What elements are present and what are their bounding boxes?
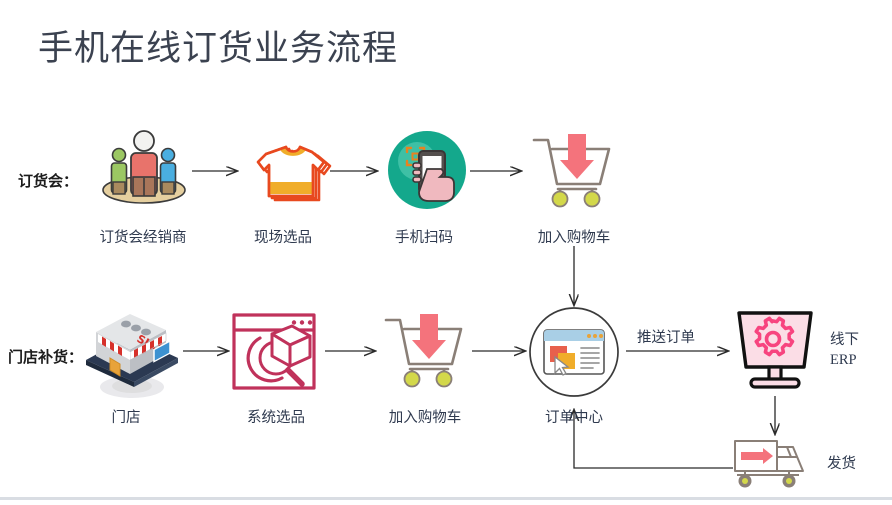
node-label-cart-top: 加入购物车 (538, 226, 611, 247)
people-group-icon (98, 128, 190, 206)
side-label-shipping: 发货 (827, 455, 856, 475)
node-label-phone-scan: 手机扫码 (395, 226, 453, 247)
row-label-store-replenish: 门店补货： (8, 346, 83, 367)
shop-building-icon: SHOP (78, 308, 183, 400)
monitor-gear-icon (731, 309, 819, 393)
browser-search-box-icon (230, 312, 318, 392)
order-center-icon (527, 305, 621, 399)
bottom-divider (0, 497, 892, 500)
side-label-erp-line2: ERP (830, 351, 859, 371)
delivery-truck-icon (733, 435, 811, 491)
node-label-dealer: 订货会经销商 (100, 226, 187, 247)
side-label-erp-line1: 线下 (830, 331, 859, 351)
node-label-cart-bottom: 加入购物车 (389, 406, 462, 427)
tshirt-icon (248, 134, 328, 206)
node-label-store: 门店 (112, 406, 141, 427)
connector-arrows (0, 0, 892, 505)
phone-scan-icon (387, 130, 467, 210)
row-label-order-meeting: 订货会： (18, 170, 78, 191)
side-label-erp: 线下 ERP (830, 331, 859, 370)
shopping-cart-icon (530, 132, 616, 208)
shopping-cart-icon (382, 312, 468, 388)
node-label-onsite-select: 现场选品 (254, 226, 312, 247)
node-label-system-select: 系统选品 (247, 406, 305, 427)
node-label-order-center: 订单中心 (545, 406, 603, 427)
edge-label-push-order: 推送订单 (637, 326, 695, 347)
page-title: 手机在线订货业务流程 (38, 20, 398, 71)
